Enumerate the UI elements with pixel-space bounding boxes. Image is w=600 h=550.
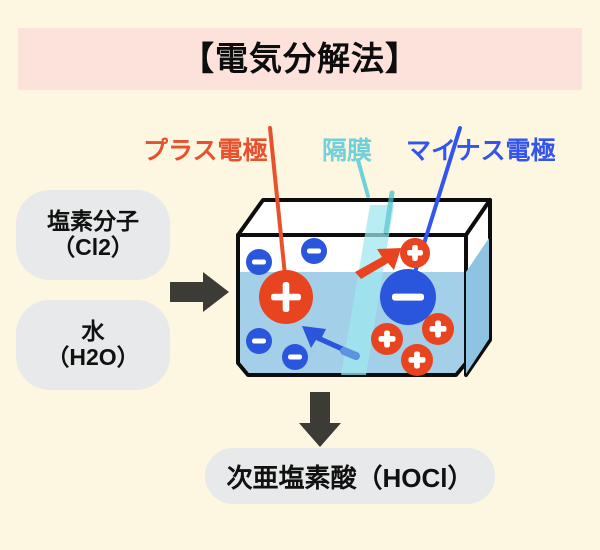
reagent-formula: （H2O） (46, 345, 139, 371)
membrane-pointer-line (358, 160, 368, 196)
tank-vessel (238, 200, 490, 375)
anion-migration-arrow (302, 326, 356, 356)
page-title: 【電気分解法】 (18, 28, 582, 90)
cation-small (401, 344, 433, 376)
membrane-diaphragm (341, 193, 394, 375)
output-arrow-icon (299, 392, 341, 447)
reagent-name: 水 (82, 319, 105, 345)
positive-electrode-rod (270, 128, 287, 295)
title-banner: 【電気分解法】 (18, 28, 582, 90)
cation-small (422, 313, 454, 345)
anion-small (301, 238, 327, 264)
cation-small (371, 323, 403, 355)
reagent-name: 塩素分子 (47, 209, 139, 235)
water-body (236, 238, 489, 382)
product-label: 次亜塩素酸（HOCl） (226, 458, 473, 495)
diagram-canvas: 【電気分解法】 プラス電極 隔膜 マイナス電極 塩素分子 （Cl2） 水 （H2… (0, 0, 600, 550)
anion-small (282, 344, 308, 370)
reagent-pill-chlorine: 塩素分子 （Cl2） (16, 190, 170, 280)
input-arrow-icon (170, 272, 229, 312)
cation-migration-arrow (355, 248, 401, 279)
anion-small (246, 249, 272, 275)
product-pill-hypochlorous-acid: 次亜塩素酸（HOCl） (205, 448, 495, 504)
cation-large-anode (259, 270, 313, 324)
caption-positive-electrode: プラス電極 (143, 139, 268, 164)
reagent-pill-water: 水 （H2O） (16, 300, 170, 390)
reagent-formula: （Cl2） (52, 235, 134, 261)
anion-small (246, 328, 272, 354)
cation-small (400, 238, 430, 268)
anion-large-cathode (380, 269, 436, 325)
caption-membrane: 隔膜 (322, 139, 372, 164)
caption-negative-electrode: マイナス電極 (406, 139, 556, 164)
